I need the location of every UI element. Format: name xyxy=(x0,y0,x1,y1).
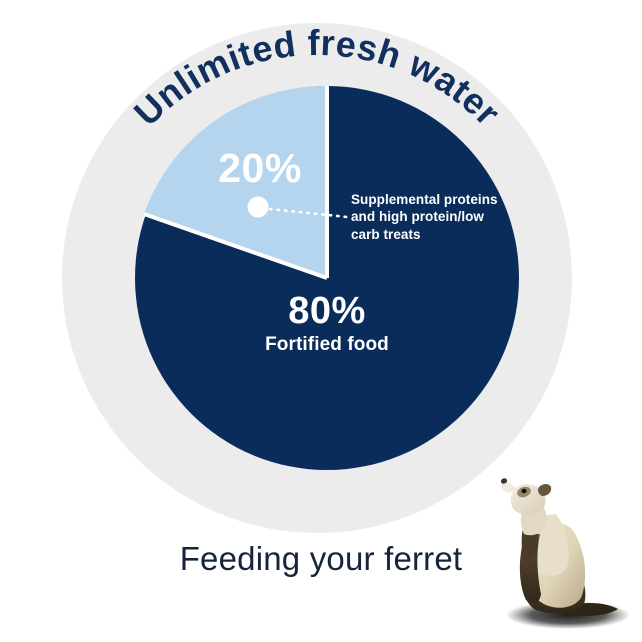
callout-line-1: Supplemental proteins xyxy=(351,191,531,208)
callout-line-2: and high protein/low xyxy=(351,208,531,225)
callout-dot xyxy=(248,197,269,218)
ferret-eye xyxy=(521,489,526,493)
page-caption: Feeding your ferret xyxy=(0,540,642,578)
slice-label-80-percent: 80% xyxy=(243,292,411,330)
callout-label: Supplemental proteins and high protein/l… xyxy=(351,191,531,243)
slice-label-20-percent: 20% xyxy=(186,148,334,189)
ferret-ear xyxy=(538,484,551,496)
callout-line-3: carb treats xyxy=(351,226,531,243)
slice-label-fortified-food: Fortified food xyxy=(233,335,421,354)
infographic-root: Unlimited fresh water xyxy=(0,0,642,642)
